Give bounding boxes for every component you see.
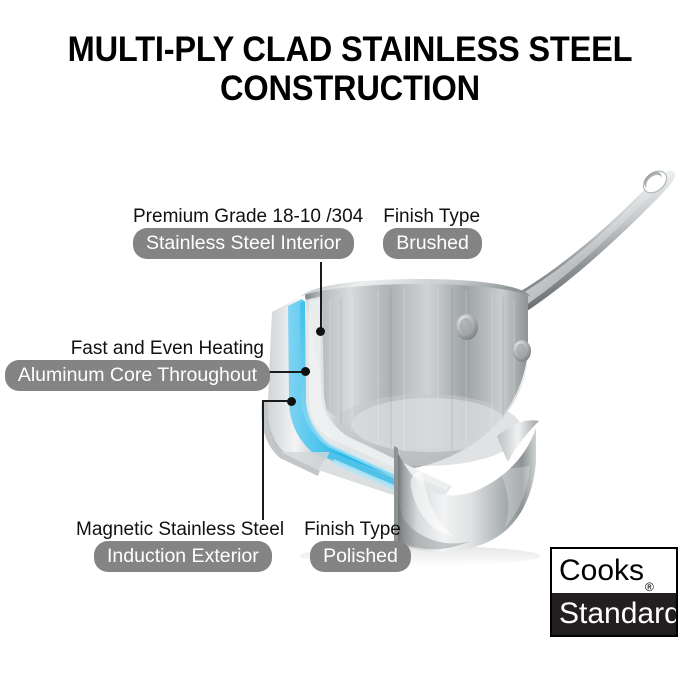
leader-line-exterior-vertical (262, 400, 264, 520)
callout-exterior-pill[interactable]: Induction Exterior (94, 541, 272, 572)
infographic-canvas: MULTI-PLY CLAD STAINLESS STEEL CONSTRUCT… (0, 0, 700, 700)
callout-interior-finish-pill[interactable]: Brushed (383, 228, 482, 259)
leader-line-exterior-horizontal (262, 400, 290, 402)
callout-exterior-finish-caption: Finish Type (304, 519, 401, 541)
callout-interior-finish-caption: Finish Type (383, 206, 480, 228)
brand-logo-cooks-text: Cooks (559, 554, 644, 587)
callout-exterior: Magnetic Stainless Steel Induction Exter… (76, 519, 411, 572)
brand-logo-top: Cooks® (552, 549, 676, 593)
callout-interior: Premium Grade 18-10 /304 Stainless Steel… (133, 206, 482, 259)
callout-interior-caption: Premium Grade 18-10 /304 (133, 206, 363, 228)
callout-interior-pill[interactable]: Stainless Steel Interior (133, 228, 354, 259)
callout-core: Fast and Even Heating Aluminum Core Thro… (2, 338, 270, 391)
callout-exterior-finish-pill[interactable]: Polished (310, 541, 411, 572)
callout-core-caption: Fast and Even Heating (71, 338, 264, 360)
callout-core-pill[interactable]: Aluminum Core Throughout (5, 360, 270, 391)
brand-logo-bottom: Standard (552, 593, 676, 635)
registered-trademark-icon: ® (645, 580, 654, 594)
brand-logo: Cooks® Standard (550, 547, 678, 637)
leader-dot-interior (316, 327, 325, 336)
leader-line-interior (320, 262, 322, 332)
callout-exterior-caption: Magnetic Stainless Steel (76, 519, 284, 541)
leader-dot-core (301, 367, 310, 376)
